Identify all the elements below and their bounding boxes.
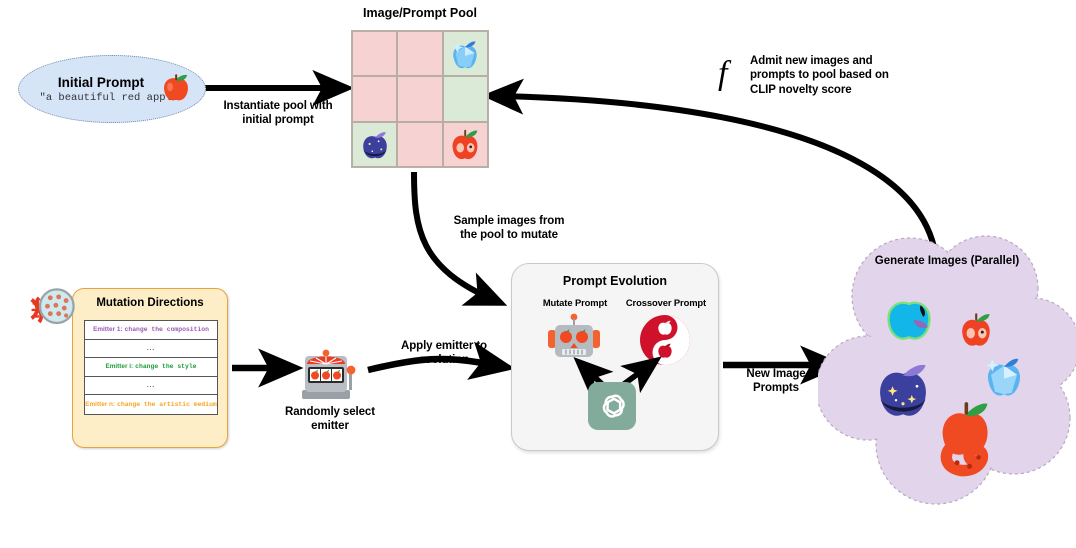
apply-emitter-label: Apply emitter to evolution (384, 339, 504, 368)
emitter-row-ellipsis-1: ... (85, 340, 217, 359)
pool-cell-r3c3[interactable] (443, 122, 488, 167)
apply-line2: evolution (384, 353, 504, 367)
cyan-apple-icon (880, 288, 938, 346)
emitter-row-n[interactable]: Emitter n: change the artistic medium (85, 395, 217, 414)
pool-cell-r2c3[interactable] (443, 76, 488, 121)
admit-line3: CLIP novelty score (750, 83, 930, 97)
emitter-list[interactable]: Emitter 1: change the composition ... Em… (84, 320, 218, 415)
new-image-prompts-label: New Image Prompts (735, 367, 817, 396)
galaxy-apple-icon (868, 353, 938, 423)
admit-line1: Admit new images and (750, 54, 930, 68)
red-apple-face-icon (446, 125, 484, 163)
instantiate-pool-label: Instantiate pool with initial prompt (206, 99, 350, 128)
pool-cell-r1c3[interactable] (443, 31, 488, 76)
mutation-directions-title: Mutation Directions (73, 297, 227, 309)
emitter-row-1[interactable]: Emitter 1: change the composition (85, 321, 217, 340)
pool-cell-r1c1[interactable] (352, 31, 397, 76)
randomly-select-emitter-label: Randomly select emitter (280, 405, 380, 434)
novelty-function-symbol: f (718, 55, 727, 93)
apple-worm-icon (930, 395, 1002, 477)
emitter-i-desc: change the style (135, 363, 196, 370)
red-apple-face-icon (955, 308, 997, 350)
admit-new-images-label: Admit new images and prompts to pool bas… (750, 54, 930, 97)
emitter-ellipsis-1-text: ... (147, 345, 155, 352)
slot-machine-icon[interactable] (296, 348, 362, 404)
sample-images-label: Sample images from the pool to mutate (434, 214, 584, 243)
emitter-ellipsis-2-text: ... (147, 382, 155, 389)
openai-logo-icon (588, 382, 636, 430)
generate-images-title: Generate Images (Parallel) (818, 255, 1076, 267)
instantiate-line2: initial prompt (206, 113, 350, 127)
sample-line2: the pool to mutate (434, 228, 584, 242)
apply-line1: Apply emitter to (384, 339, 504, 353)
pool-cell-r2c2[interactable] (397, 76, 442, 121)
admit-line2: prompts to pool based on (750, 68, 930, 82)
image-prompt-pool-grid[interactable] (351, 30, 489, 168)
emitter-1-desc: change the composition (125, 326, 209, 333)
emitter-n-desc: change the artistic medium (117, 401, 217, 408)
emitter-1-name: Emitter 1: (93, 326, 122, 333)
prompt-evolution-panel[interactable]: Prompt Evolution Mutate Prompt Crossover… (511, 263, 719, 451)
pool-title: Image/Prompt Pool (350, 6, 490, 20)
pool-cell-r1c2[interactable] (397, 31, 442, 76)
pool-cell-r3c1[interactable] (352, 122, 397, 167)
diagram-canvas: Initial Prompt "a beautiful red apple" I… (0, 0, 1076, 548)
slot-label-line1: Randomly select (280, 405, 380, 419)
new-prompts-line1: New Image (735, 367, 817, 381)
red-apple-icon (159, 70, 193, 104)
new-prompts-line2: Prompts (735, 381, 817, 395)
pool-cell-r2c1[interactable] (352, 76, 397, 121)
initial-prompt-node[interactable]: Initial Prompt "a beautiful red apple" (18, 55, 206, 123)
initial-prompt-heading: Initial Prompt (58, 75, 166, 90)
instantiate-line1: Instantiate pool with (206, 99, 350, 113)
pool-cell-r3c2[interactable] (397, 122, 442, 167)
emitter-row-i[interactable]: Emitter i: change the style (85, 358, 217, 377)
petri-dish-dna-icon (26, 281, 82, 337)
mutation-directions-panel[interactable]: Mutation Directions Emitter 1: change th… (72, 288, 228, 448)
crystal-blue-apple-icon (446, 35, 484, 73)
emitter-n-name: Emitter n: (85, 401, 115, 408)
arrow-llm-to-crossover (624, 365, 650, 384)
slot-label-line2: emitter (280, 419, 380, 433)
emitter-i-name: Emitter i: (105, 363, 133, 370)
emitter-row-ellipsis-2: ... (85, 377, 217, 396)
galaxy-apple-icon (357, 126, 393, 162)
sample-line1: Sample images from (434, 214, 584, 228)
